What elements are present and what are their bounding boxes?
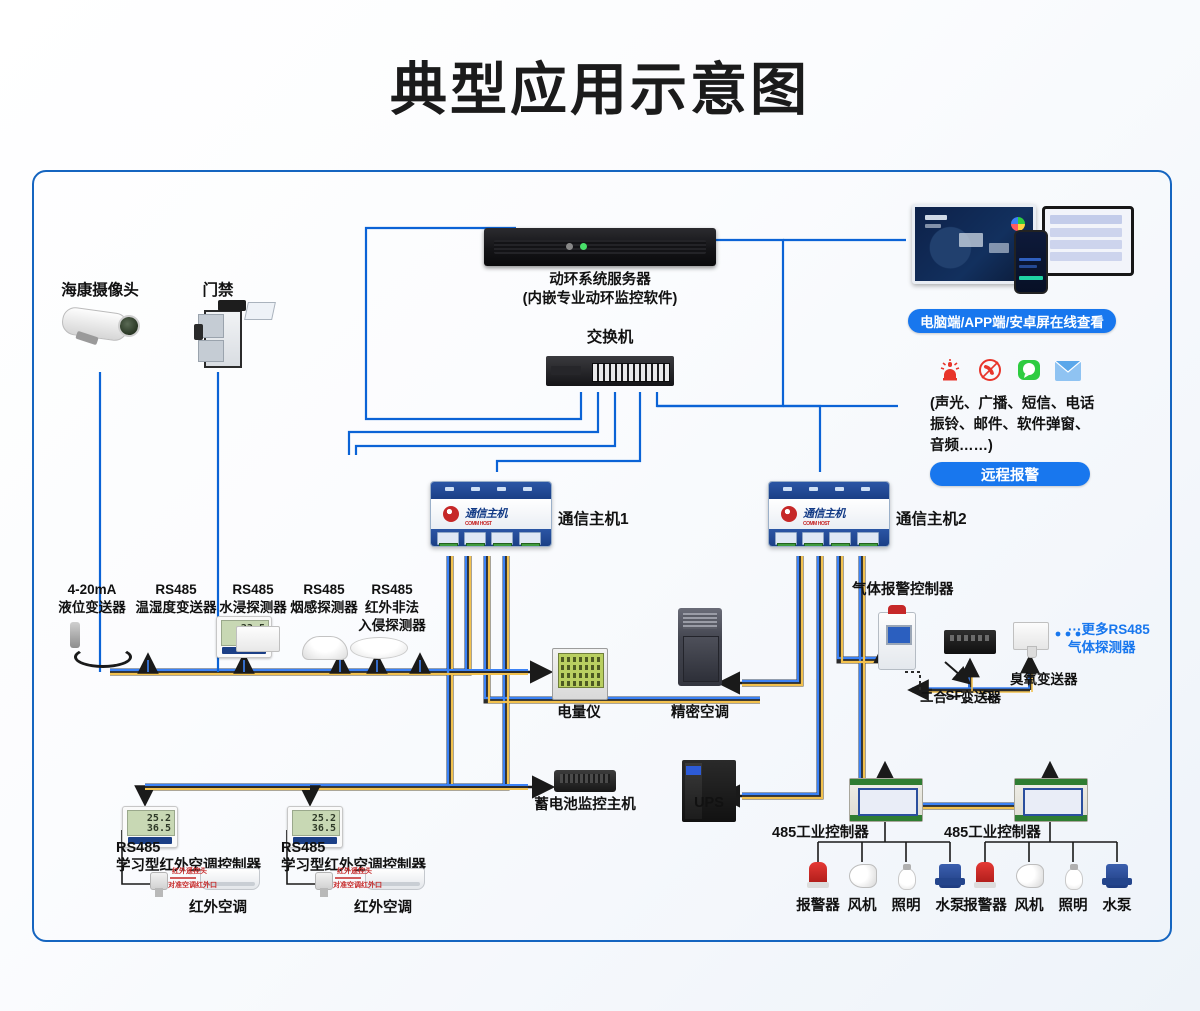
plc-output-label-2: 照明 (892, 898, 921, 916)
industrial-controller-1-device (849, 778, 923, 822)
ac-controller-1-label-line1: RS485 (116, 840, 160, 858)
ir-tag-1-bottom: 对准空调红外口 (168, 880, 217, 890)
more-rs485-gas-label-line2: 气体探测器 (1068, 640, 1136, 656)
mobile-app-device (1014, 230, 1048, 294)
alarm-output-1-device (809, 862, 827, 888)
gas-alarm-controller-label: 气体报警控制器 (852, 582, 954, 600)
sensor-2-label-line1: RS485 (232, 582, 273, 598)
communication-host-2-label: 通信主机2 (896, 511, 967, 530)
sensor-1-label-line1: RS485 (155, 582, 196, 598)
android-tablet-device (1042, 206, 1134, 276)
level-transmitter-cable (74, 646, 132, 668)
battery-host-label: 蓄电池监控主机 (534, 797, 636, 815)
fan-output-2-device (1016, 864, 1044, 888)
server-label-line2: (内嵌专业动环监控软件) (523, 291, 678, 309)
network-switch-device (546, 356, 674, 386)
sensor-3-label-line2: 烟感探测器 (290, 600, 358, 616)
alarm-output-2-device (976, 862, 994, 888)
precision-air-conditioner-device (678, 608, 722, 686)
lighting-output-2-device (1065, 868, 1083, 890)
server-label-line1: 动环系统服务器 (549, 272, 651, 290)
plc-output-label-5: 风机 (1015, 898, 1044, 916)
plc-output-label-6: 照明 (1059, 898, 1088, 916)
phone-ring-icon (978, 358, 1002, 387)
pump-output-2-device (1106, 864, 1128, 888)
plc-output-label-7: 水泵 (1103, 898, 1132, 916)
ir-tag-2-bottom: 对准空调红外口 (333, 880, 382, 890)
sensor-1-label-line2: 温湿度变送器 (136, 600, 217, 616)
ozone-transmitter-device (1013, 622, 1049, 650)
sensor-2-label-line2: 水浸探测器 (219, 600, 287, 616)
ir-tag-1-top: 红外遥控头 (172, 866, 207, 876)
sensor-4-label-line1: RS485 (371, 582, 412, 598)
email-icon (1055, 361, 1081, 386)
access-control-device (194, 300, 244, 364)
pump-output-1-device (939, 864, 961, 888)
ups-label: UPS (694, 795, 724, 813)
ozone-label: 臭氧变送器 (1010, 672, 1078, 688)
switch-label: 交换机 (587, 329, 634, 348)
ir-emitter-1-device (150, 872, 168, 890)
remote-alarm-pill[interactable]: 远程报警 (930, 462, 1090, 486)
sensor-0-label-line1: 4-20mA (68, 582, 117, 598)
sms-icon (1017, 358, 1041, 387)
ac1-hum-value: 36.5 (147, 823, 171, 834)
alarm-note-line3: 音频……) (930, 438, 993, 456)
ac2-hum-value: 36.5 (312, 823, 336, 834)
alarm-note-line1: (声光、广播、短信、电话 (930, 396, 1094, 414)
access-control-label: 门禁 (202, 282, 233, 301)
ir-ac-1-label: 红外空调 (189, 900, 247, 918)
page-title: 典型应用示意图 (0, 44, 1200, 126)
more-rs485-gas-label-line1: ···更多RS485 (1068, 622, 1150, 638)
sf6-o2-transmitter-device (944, 630, 996, 654)
sensor-3-label-line1: RS485 (303, 582, 344, 598)
ir-tag-2-top: 红外遥控头 (337, 866, 372, 876)
industrial-controller-1-label: 485工业控制器 (772, 825, 869, 843)
sensor-4-label-line3: 入侵探测器 (358, 618, 426, 634)
ir-ac-2-label: 红外空调 (354, 900, 412, 918)
dynamic-environment-server-device (484, 228, 716, 266)
siren-icon (938, 358, 962, 387)
ir-emitter-2-device (315, 872, 333, 890)
lighting-output-1-device (898, 868, 916, 890)
communication-host-2-device: 通信主机COMM HOST (768, 481, 890, 547)
infrared-intrusion-detector-device (350, 637, 408, 659)
gas-alarm-controller-device (878, 612, 916, 670)
power-meter-device (552, 648, 608, 700)
sf6-o2-label-line2: 二合一变送器 (920, 690, 1001, 706)
plc-output-label-0: 报警器 (796, 898, 840, 916)
battery-monitoring-host-device (554, 770, 616, 792)
water-immersion-detector-device (236, 626, 280, 652)
smoke-detector-device (302, 636, 348, 660)
camera-label: 海康摄像头 (61, 282, 139, 301)
alarm-note-line2: 振铃、邮件、软件弹窗、 (930, 417, 1090, 435)
ac-controller-2-label-line1: RS485 (281, 840, 325, 858)
plc-output-label-3: 水泵 (936, 898, 965, 916)
power-meter-label: 电量仪 (557, 705, 601, 723)
industrial-controller-2-label: 485工业控制器 (944, 825, 1041, 843)
level-transmitter-device (70, 622, 80, 648)
hikvision-camera-device (62, 310, 140, 340)
plc-output-label-4: 报警器 (963, 898, 1007, 916)
fan-output-1-device (849, 864, 877, 888)
sensor-0-label-line2: 液位变送器 (58, 600, 126, 616)
plc-output-label-1: 风机 (848, 898, 877, 916)
ups-device (682, 760, 736, 822)
communication-host-1-device: 通信主机COMM HOST (430, 481, 552, 547)
sensor-4-label-line2: 红外非法 (365, 600, 419, 616)
precision-ac-label: 精密空调 (671, 705, 729, 723)
online-view-pill[interactable]: 电脑端/APP端/安卓屏在线查看 (908, 309, 1116, 333)
industrial-controller-2-device (1014, 778, 1088, 822)
communication-host-1-label: 通信主机1 (558, 511, 629, 530)
